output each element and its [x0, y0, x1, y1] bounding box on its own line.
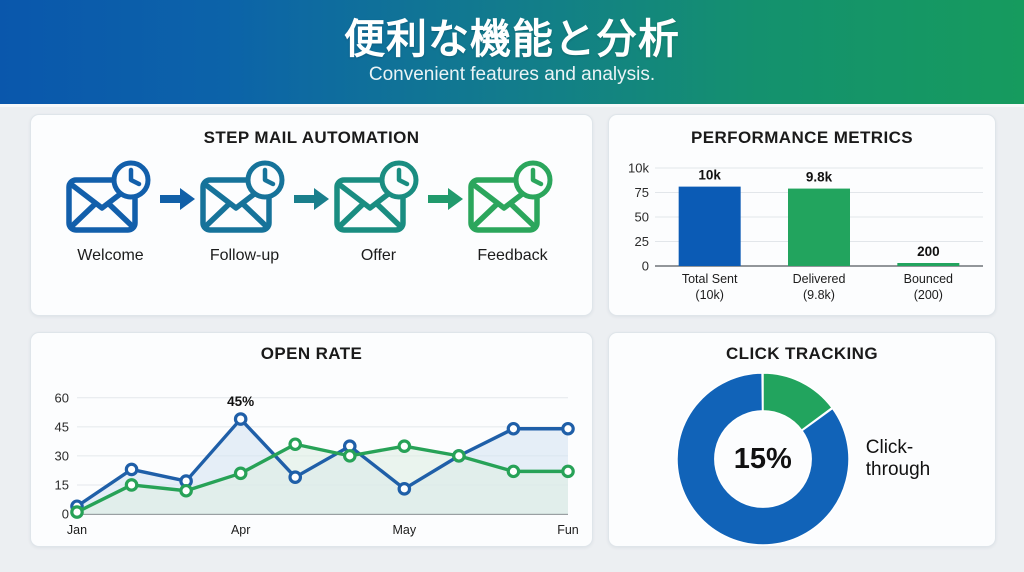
line-chart: 60453015045%JanAprMayFun [31, 368, 592, 548]
donut-legend-line1: Click- [866, 437, 930, 459]
flow-step-offer[interactable]: Offer [324, 160, 434, 265]
bar-y-tick-label: 10k [628, 161, 649, 176]
header-divider [0, 104, 1024, 107]
line-x-tick-label: Jan [67, 523, 87, 537]
bar-category-sublabel: (200) [914, 288, 943, 302]
bar-category-label: Total Sent [682, 272, 738, 286]
flow-step-label: Follow-up [210, 247, 279, 265]
line-x-tick-label: Fun [557, 523, 579, 537]
envelope-clock-icon [467, 160, 559, 238]
bar-y-tick-label: 50 [635, 210, 649, 225]
envelope-clock-icon [65, 160, 157, 238]
flow-step-welcome[interactable]: Welcome [56, 160, 166, 265]
bar-chart: 10k755025010kTotal Sent(10k)9.8kDelivere… [609, 154, 995, 314]
page-title: 便利な機能と分析 [344, 18, 680, 61]
click-tracking-title: CLICK TRACKING [609, 333, 995, 364]
card-click-tracking: CLICK TRACKING 15% Click- through [608, 332, 996, 547]
donut-legend: Click- through [866, 437, 930, 482]
line-data-point[interactable] [235, 468, 245, 478]
flow-step-feedback[interactable]: Feedback [458, 160, 568, 265]
donut-chart: 15% Click- through [609, 370, 995, 548]
line-x-tick-label: May [393, 523, 417, 537]
line-data-point[interactable] [399, 484, 409, 494]
bar-y-tick-label: 75 [635, 185, 649, 200]
page-subtitle: Convenient features and analysis. [369, 65, 655, 86]
bar-data-label: 10k [698, 168, 721, 183]
line-y-tick-label: 30 [55, 448, 69, 463]
dashboard-page: 便利な機能と分析 Convenient features and analysi… [0, 0, 1024, 572]
line-data-point[interactable] [399, 441, 409, 451]
line-y-tick-label: 15 [55, 477, 69, 492]
line-data-point[interactable] [454, 451, 464, 461]
line-data-point[interactable] [563, 424, 573, 434]
line-data-point[interactable] [235, 414, 245, 424]
bar-y-tick-label: 0 [642, 259, 649, 274]
line-data-point[interactable] [181, 486, 191, 496]
performance-title: PERFORMANCE METRICS [609, 115, 995, 148]
card-performance-metrics: PERFORMANCE METRICS 10k755025010kTotal S… [608, 114, 996, 316]
flow-step-label: Feedback [477, 247, 547, 265]
line-data-point[interactable] [508, 466, 518, 476]
donut-holder: 15% [674, 370, 852, 548]
card-step-mail-automation: STEP MAIL AUTOMATION Welcome [30, 114, 593, 316]
line-data-point[interactable] [126, 464, 136, 474]
line-peak-annotation: 45% [227, 394, 254, 409]
flow-step-label: Welcome [77, 247, 143, 265]
bar-category-label: Delivered [793, 272, 846, 286]
line-data-point[interactable] [508, 424, 518, 434]
flow-step-label: Offer [361, 247, 396, 265]
bar-data-label: 200 [917, 244, 940, 259]
line-x-tick-label: Apr [231, 523, 250, 537]
envelope-clock-icon [333, 160, 425, 238]
line-data-point[interactable] [72, 507, 82, 517]
bar-category-sublabel: (10k) [695, 288, 723, 302]
bar-y-tick-label: 25 [635, 234, 649, 249]
flow-step-follow-up[interactable]: Follow-up [190, 160, 300, 265]
step-mail-title: STEP MAIL AUTOMATION [31, 115, 592, 148]
bar-rect[interactable] [679, 187, 741, 266]
bar-rect[interactable] [788, 189, 850, 266]
line-data-point[interactable] [290, 472, 300, 482]
bar-chart-svg: 10k755025010kTotal Sent(10k)9.8kDelivere… [609, 154, 995, 314]
donut-legend-line2: through [866, 459, 930, 481]
donut-center-value: 15% [674, 370, 852, 548]
card-open-rate: OPEN RATE 60453015045%JanAprMayFun [30, 332, 593, 547]
open-rate-title: OPEN RATE [31, 333, 592, 364]
bar-data-label: 9.8k [806, 170, 833, 185]
line-data-point[interactable] [126, 480, 136, 490]
line-y-tick-label: 0 [62, 507, 69, 522]
line-data-point[interactable] [290, 439, 300, 449]
step-mail-flow: Welcome Follow-up [31, 160, 592, 265]
bar-category-sublabel: (9.8k) [803, 288, 835, 302]
page-header: 便利な機能と分析 Convenient features and analysi… [0, 0, 1024, 104]
line-chart-svg: 60453015045%JanAprMayFun [31, 368, 592, 548]
bar-category-label: Bounced [904, 272, 953, 286]
line-data-point[interactable] [563, 466, 573, 476]
envelope-clock-icon [199, 160, 291, 238]
line-y-tick-label: 45 [55, 419, 69, 434]
line-y-tick-label: 60 [55, 390, 69, 405]
line-data-point[interactable] [345, 451, 355, 461]
bar-rect[interactable] [897, 263, 959, 266]
